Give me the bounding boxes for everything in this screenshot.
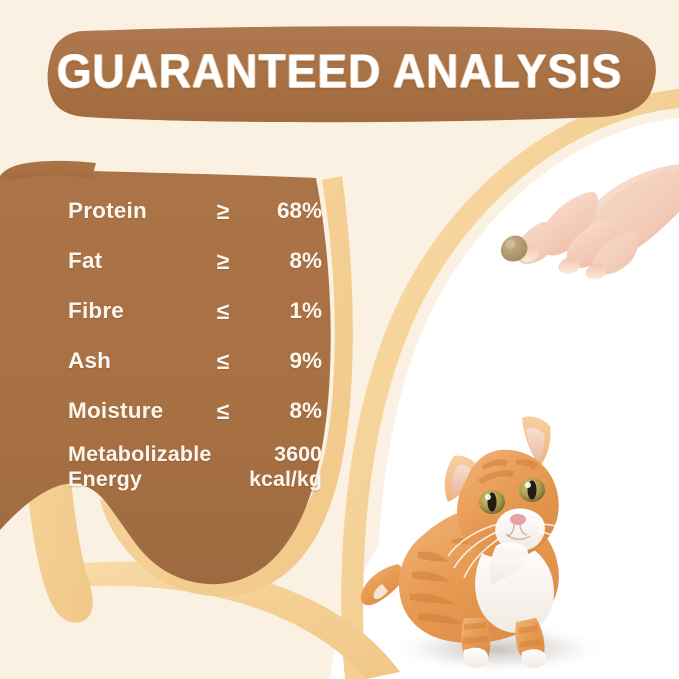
- cat-paw-left: [463, 648, 488, 668]
- table-row: Ash ≤ 9%: [0, 336, 340, 386]
- energy-name-line2: Energy: [68, 467, 212, 492]
- energy-name-line1: Metabolizable: [68, 442, 212, 467]
- nutrient-name: Moisture: [68, 386, 163, 436]
- table-row-energy: Metabolizable Energy 3600 kcal/kg: [0, 436, 340, 492]
- middle-nail: [558, 257, 580, 274]
- table-row: Moisture ≤ 8%: [0, 386, 340, 436]
- nutrient-name: Ash: [68, 336, 111, 386]
- nutrient-value: 68%: [212, 186, 322, 236]
- nutrient-value: 1%: [212, 286, 322, 336]
- nutrient-value: 8%: [212, 236, 322, 286]
- table-row: Fat ≥ 8%: [0, 236, 340, 286]
- nutrient-name: Protein: [68, 186, 147, 236]
- nutrient-name: Fibre: [68, 286, 124, 336]
- energy-value-line1: 3600: [212, 442, 322, 467]
- nutrient-value: 8%: [212, 386, 322, 436]
- guaranteed-analysis-infographic: GUARANTEED ANALYSIS Protein ≥ 68% Fat ≥ …: [0, 0, 679, 679]
- energy-name: Metabolizable Energy: [68, 442, 212, 492]
- energy-value-line2: kcal/kg: [212, 467, 322, 492]
- orange-tabby-kitten-photo: [356, 404, 656, 672]
- guaranteed-analysis-table: Protein ≥ 68% Fat ≥ 8% Fibre ≤ 1% Ash ≤ …: [0, 186, 340, 492]
- title-banner-shape: [48, 26, 656, 122]
- energy-value: 3600 kcal/kg: [212, 442, 322, 492]
- table-row: Fibre ≤ 1%: [0, 286, 340, 336]
- table-row: Protein ≥ 68%: [0, 186, 340, 236]
- hand-holding-treat-photo: [489, 160, 679, 295]
- nutrient-value: 9%: [212, 336, 322, 386]
- nutrient-name: Fat: [68, 236, 102, 286]
- artboard: GUARANTEED ANALYSIS Protein ≥ 68% Fat ≥ …: [0, 0, 679, 679]
